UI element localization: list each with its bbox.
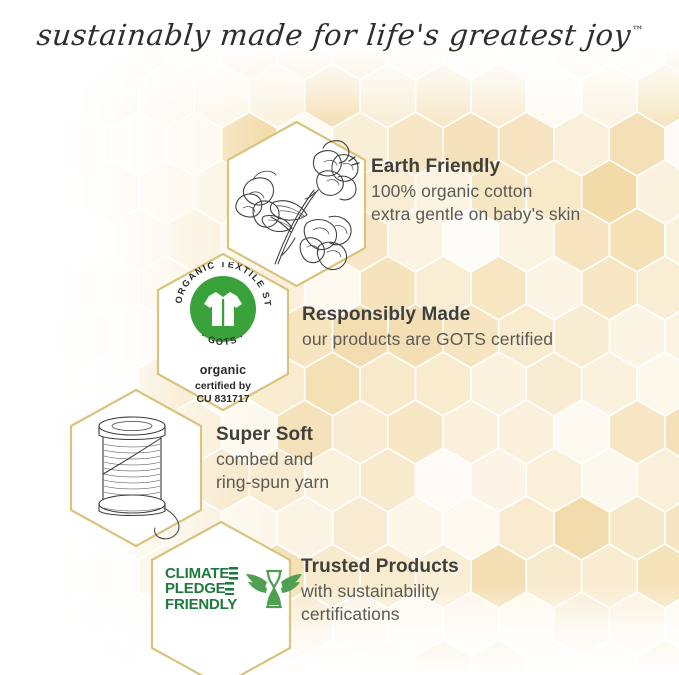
honeycomb-cell [610, 305, 664, 367]
climate-pledge-friendly-badge: CLIMATE PLEDGE FRIENDLY [165, 563, 303, 615]
headline-text: sustainably made for life's greatest joy [35, 18, 632, 52]
honeycomb-cell [416, 641, 470, 675]
honeycomb-cell [527, 449, 581, 511]
honeycomb-cell [638, 449, 679, 511]
climate-pledge-friendly-wordmark: CLIMATE PLEDGE FRIENDLY [165, 566, 238, 612]
cpf-line-1: CLIMATE [165, 566, 238, 581]
honeycomb-cell [583, 449, 637, 511]
honeycomb-cell [416, 449, 470, 511]
honeycomb-cell [610, 209, 664, 271]
honeycomb-cell [29, 257, 83, 319]
honeycomb-cell [84, 161, 138, 223]
honeycomb-cell [666, 593, 679, 655]
honeycomb-cell [139, 161, 193, 223]
honeycomb-cell [0, 353, 27, 415]
honeycomb-cell [416, 65, 470, 127]
honeycomb-cell [610, 401, 664, 463]
gots-organic-certification-icon: GLOBAL ORGANIC TEXTILE STANDARD · GOTS · [161, 262, 285, 354]
honeycomb-cell [1, 497, 55, 559]
honeycomb-cell [1, 305, 55, 367]
honeycomb-cell [1, 209, 55, 271]
gots-tshirt-seam [222, 299, 224, 326]
honeycomb-cell [389, 401, 443, 463]
marketing-infographic: sustainably made for life's greatest joy… [0, 0, 679, 675]
gots-organic-label: organic [161, 363, 285, 377]
honeycomb-cell [306, 641, 360, 675]
gots-certified-by-label: certified by CU 831717 [161, 380, 285, 406]
honeycomb-cell [638, 545, 679, 607]
honeycomb-cell [472, 545, 526, 607]
honeycomb-cell [610, 113, 664, 175]
honeycomb-cell [666, 113, 679, 175]
honeycomb-cell [666, 497, 679, 559]
feature-line: our products are GOTS certified [302, 328, 553, 351]
honeycomb-cell [583, 545, 637, 607]
honeycomb-cell [638, 65, 679, 127]
headline: sustainably made for life's greatest joy… [0, 18, 679, 52]
feature-text-trusted-products: Trusted Products with sustainability cer… [301, 555, 459, 627]
honeycomb-cell [333, 497, 387, 559]
honeycomb-cell [29, 161, 83, 223]
feature-line: extra gentle on baby's skin [371, 203, 580, 226]
honeycomb-cell [472, 641, 526, 675]
feature-title: Super Soft [216, 423, 329, 447]
honeycomb-cell [472, 65, 526, 127]
honeycomb-cell [555, 497, 609, 559]
feature-line: combed and [216, 448, 329, 471]
feature-line: with sustainability [301, 580, 459, 603]
hourglass-sand [269, 590, 279, 605]
honeycomb-cell [306, 353, 360, 415]
winged-hourglass-icon [245, 563, 303, 615]
honeycomb-cell [1, 401, 55, 463]
honeycomb-cell [1, 113, 55, 175]
honeycomb-cell [361, 449, 415, 511]
feature-line: certifications [301, 603, 459, 626]
honeycomb-cell [167, 113, 221, 175]
honeycomb-cell [112, 113, 166, 175]
honeycomb-cell [638, 161, 679, 223]
honeycomb-cell [555, 593, 609, 655]
honeycomb-cell [527, 545, 581, 607]
honeycomb-cell [472, 449, 526, 511]
feature-line: ring-spun yarn [216, 471, 329, 494]
honeycomb-cell [472, 353, 526, 415]
honeycomb-cell [29, 641, 83, 675]
honeycomb-cell [56, 305, 110, 367]
honeycomb-cell [29, 65, 83, 127]
honeycomb-cell [610, 497, 664, 559]
cpf-line-2: PLEDGE [165, 581, 234, 596]
honeycomb-cell [416, 353, 470, 415]
feature-title: Earth Friendly [371, 155, 580, 179]
cpf-bars-icon [229, 567, 238, 580]
feature-title: Trusted Products [301, 555, 459, 579]
honeycomb-cell [444, 401, 498, 463]
honeycomb-cell [499, 593, 553, 655]
honeycomb-cell [583, 257, 637, 319]
honeycomb-cell [638, 353, 679, 415]
honeycomb-cell [583, 353, 637, 415]
honeycomb-cell [56, 593, 110, 655]
feature-title: Responsibly Made [302, 303, 553, 327]
honeycomb-cell [527, 353, 581, 415]
honeycomb-cell [583, 161, 637, 223]
honeycomb-cell [1, 593, 55, 655]
honeycomb-cell [666, 401, 679, 463]
honeycomb-cell [499, 497, 553, 559]
feature-text-earth-friendly: Earth Friendly 100% organic cotton extra… [371, 155, 580, 227]
honeycomb-cell [583, 65, 637, 127]
honeycomb-cell [84, 641, 138, 675]
honeycomb-cell [389, 497, 443, 559]
honeycomb-cell [0, 545, 27, 607]
trademark-symbol: ™ [630, 23, 643, 37]
feature-text-super-soft: Super Soft combed and ring-spun yarn [216, 423, 329, 495]
honeycomb-cell [0, 161, 27, 223]
cpf-line-2-text: PLEDGE [165, 580, 225, 597]
honeycomb-cell [666, 305, 679, 367]
honeycomb-cell [29, 545, 83, 607]
honeycomb-cell [0, 257, 27, 319]
honeycomb-cell [638, 257, 679, 319]
cpf-bars-icon [225, 582, 234, 595]
honeycomb-cell [444, 497, 498, 559]
honeycomb-cell [499, 401, 553, 463]
honeycomb-cell [84, 65, 138, 127]
honeycomb-cell [84, 545, 138, 607]
honeycomb-cell [56, 113, 110, 175]
honeycomb-cell [583, 641, 637, 675]
honeycomb-cell [333, 401, 387, 463]
honeycomb-cell [84, 257, 138, 319]
honeycomb-cell [56, 209, 110, 271]
honeycomb-cell [0, 641, 27, 675]
cpf-line-3: FRIENDLY [165, 597, 237, 612]
honeycomb-cell [555, 305, 609, 367]
honeycomb-cell [638, 641, 679, 675]
honeycomb-cell [361, 353, 415, 415]
gots-certification-badge: GLOBAL ORGANIC TEXTILE STANDARD · GOTS ·… [161, 262, 285, 406]
honeycomb-cell [666, 209, 679, 271]
honeycomb-cell [0, 65, 27, 127]
honeycomb-cell [527, 65, 581, 127]
honeycomb-cell [361, 641, 415, 675]
honeycomb-cell [139, 65, 193, 127]
feature-text-responsibly-made: Responsibly Made our products are GOTS c… [302, 303, 553, 351]
gots-certified-by-text: certified by [195, 380, 251, 392]
honeycomb-cell [0, 449, 27, 511]
gots-certifier-id: CU 831717 [196, 393, 249, 405]
honeycomb-cell [555, 401, 609, 463]
feature-line: 100% organic cotton [371, 180, 580, 203]
honeycomb-cell [610, 593, 664, 655]
honeycomb-cell [527, 641, 581, 675]
